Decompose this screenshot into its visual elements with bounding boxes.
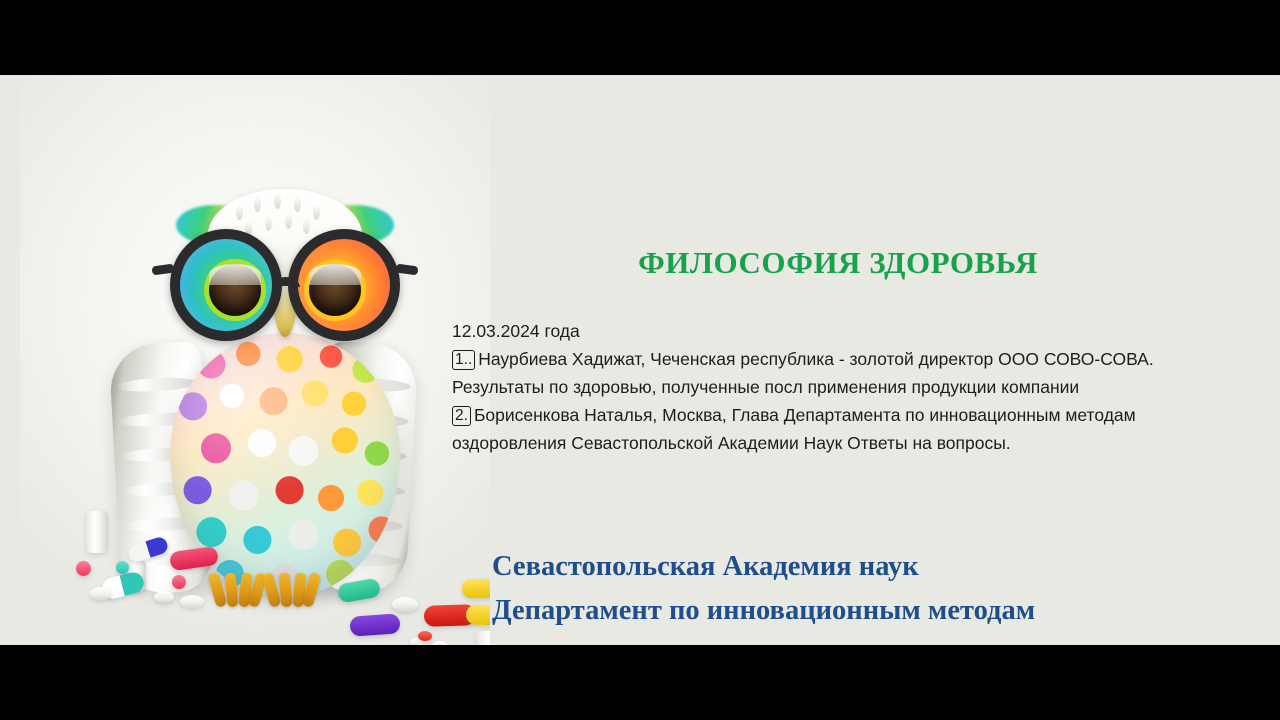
pill-bottle-left xyxy=(86,511,108,553)
item-2-text: Борисенкова Наталья, Москва, Глава Депар… xyxy=(452,405,1136,453)
capsule-purple-right xyxy=(349,613,400,636)
pill-bottle-right xyxy=(476,631,490,645)
owl-head xyxy=(172,203,398,363)
capsule-yellow-right-1 xyxy=(462,579,490,599)
owl-talon-left xyxy=(212,573,264,609)
organisation-block: Севастопольская Академия наук Департамен… xyxy=(492,545,1252,645)
tablet-red-right xyxy=(418,631,432,641)
item-1-marker: 1.. xyxy=(452,350,475,370)
eyeglass-lens-left xyxy=(170,229,282,341)
tablet-white-left-3 xyxy=(180,595,204,608)
agenda-item-1: 1..Наурбиева Хадижат, Чеченская республи… xyxy=(452,345,1197,401)
item-2-marker: 2. xyxy=(452,406,471,426)
letterbox-bottom xyxy=(0,645,1280,720)
owl-talon-right xyxy=(266,573,318,609)
organisation-line-2: Департамент по инновационным методам xyxy=(492,589,1252,633)
tablet-white-left-2 xyxy=(154,591,174,603)
organisation-line-1: Севастопольская Академия наук xyxy=(492,545,1252,589)
agenda-item-2: 2.Борисенкова Наталья, Москва, Глава Деп… xyxy=(452,401,1197,457)
letterbox-top xyxy=(0,0,1280,75)
tablet-white-left-1 xyxy=(90,587,112,600)
eyeglass-bridge xyxy=(272,277,300,298)
capsule-yellow-right-2 xyxy=(466,605,490,626)
item-1-text: Наурбиева Хадижат, Чеченская республика … xyxy=(452,349,1154,397)
owl-eyeglasses xyxy=(172,225,398,349)
tablet-teal-left xyxy=(116,561,129,574)
tablet-white-right-3 xyxy=(432,641,448,645)
organisation-line-3: оздоровления xyxy=(492,633,1252,645)
owl-illustration xyxy=(20,75,490,645)
date-line: 12.03.2024 года xyxy=(452,317,1197,345)
slide-body-text: 12.03.2024 года 1..Наурбиева Хадижат, Че… xyxy=(452,317,1197,457)
slide-title: ФИЛОСОФИЯ ЗДОРОВЬЯ xyxy=(448,245,1228,281)
tablet-pink-left-2 xyxy=(172,575,186,589)
tablet-pink-left xyxy=(76,561,91,576)
video-frame: ФИЛОСОФИЯ ЗДОРОВЬЯ 12.03.2024 года 1..На… xyxy=(0,0,1280,720)
presentation-slide: ФИЛОСОФИЯ ЗДОРОВЬЯ 12.03.2024 года 1..На… xyxy=(0,75,1280,645)
eyeglass-lens-right xyxy=(288,229,400,341)
tablet-white-right-1 xyxy=(392,597,418,612)
